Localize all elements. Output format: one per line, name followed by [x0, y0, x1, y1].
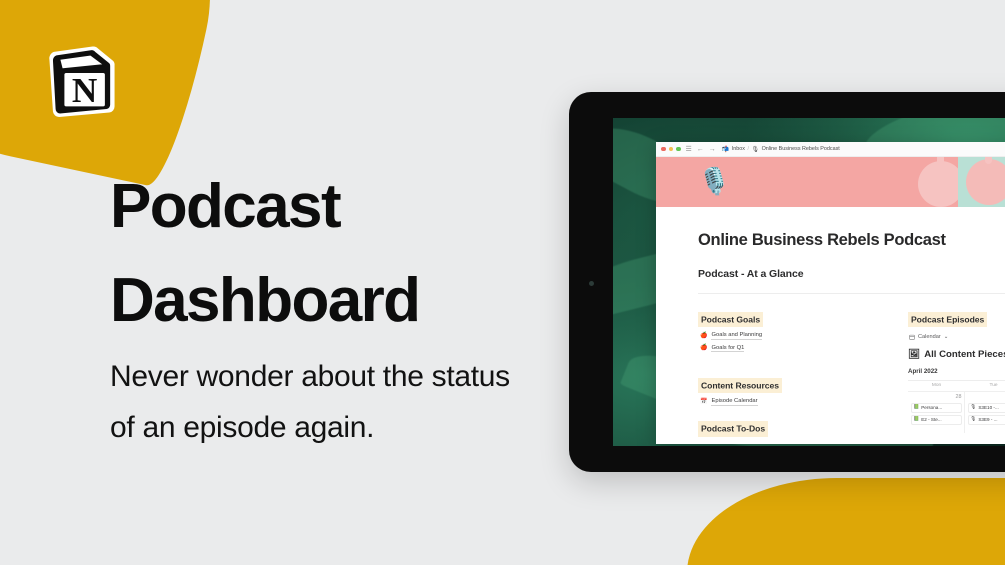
promo-graphic: N Podcast Dashboard Never wonder about t… — [0, 0, 1005, 565]
right-column: Podcast Episodes Calendar ⌄ 🖼 — [908, 309, 1005, 437]
block-podcast-todos: Podcast To-Dos — [698, 419, 886, 437]
breadcrumb-page[interactable]: Online Business Rebels Podcast — [762, 146, 840, 152]
page-title[interactable]: Online Business Rebels Podcast — [698, 231, 1005, 250]
divider — [698, 293, 1005, 294]
calendar-day-cell[interactable]: 29 🎙 S3E10 -... 🎙 S3E9 - ... — [965, 391, 1005, 433]
cover-right-mint — [958, 157, 1005, 207]
headphone-cup-shape — [966, 159, 1005, 205]
microphone-emoji-icon: 🎙 — [971, 405, 977, 410]
link-label: Episode Calendar — [711, 398, 757, 406]
book-emoji-icon: 📗 — [914, 417, 920, 422]
hamburger-icon[interactable]: ☰ — [686, 146, 692, 153]
tablet-screen: ☰ ← → 📬 Inbox / 🎙 Online Business Rebels… — [613, 118, 1005, 446]
decorative-blob-bottom-right — [687, 478, 1005, 565]
image-emoji-icon: 🖼 — [908, 349, 920, 360]
chevron-down-icon[interactable]: ⌄ — [944, 334, 949, 340]
event-label: E2 - Ste... — [921, 417, 941, 422]
spacer — [698, 352, 886, 375]
microphone-emoji-icon: 🎙 — [971, 417, 977, 422]
headline-line-2: Dashboard — [110, 254, 560, 348]
calendar-date: 28 — [911, 394, 962, 400]
calendar-event-chip[interactable]: 🎙 S3E9 - ... — [968, 415, 1005, 425]
link-label: Goals for Q1 — [711, 345, 744, 353]
calendar-date: 29 — [968, 394, 1005, 400]
heading-content-resources[interactable]: Content Resources — [698, 378, 782, 394]
camera-dot-icon — [589, 281, 594, 286]
browser-window: ☰ ← → 📬 Inbox / 🎙 Online Business Rebels… — [656, 142, 1005, 444]
calendar-emoji-icon: 📅 — [700, 399, 707, 405]
inbox-emoji-icon: 📬 — [722, 146, 729, 153]
browser-chrome: ☰ ← → 📬 Inbox / 🎙 Online Business Rebels… — [656, 142, 1005, 157]
calendar-month-label: April 2022 — [908, 368, 1005, 375]
headline-line-1: Podcast — [110, 172, 340, 241]
minimize-icon[interactable] — [669, 147, 674, 152]
apple-emoji-icon: 🍎 — [700, 333, 707, 339]
link-label: Goals and Planning — [711, 332, 762, 340]
left-column: Podcast Goals 🍎 Goals and Planning 🍎 Goa… — [698, 309, 886, 437]
list-item[interactable]: 🍎 Goals and Planning — [698, 332, 886, 340]
event-label: Persona... — [921, 405, 942, 410]
book-emoji-icon: 📗 — [914, 405, 920, 410]
breadcrumb-workspace[interactable]: Inbox — [732, 146, 745, 152]
page-icon[interactable]: 🎙️ — [698, 168, 730, 194]
calendar-icon — [909, 334, 915, 340]
calendar-event-chip[interactable]: 📗 Persona... — [911, 403, 962, 413]
headphone-cup-shape — [918, 161, 958, 207]
apple-emoji-icon: 🍎 — [700, 345, 707, 351]
close-icon[interactable] — [661, 147, 666, 152]
arrow-left-icon[interactable]: ← — [697, 146, 704, 153]
list-item[interactable]: 🍎 Goals for Q1 — [698, 345, 886, 353]
list-item[interactable]: 📅 Episode Calendar — [698, 398, 886, 406]
heading-podcast-goals[interactable]: Podcast Goals — [698, 312, 763, 328]
svg-text:N: N — [72, 71, 97, 110]
breadcrumb: 📬 Inbox / 🎙 Online Business Rebels Podca… — [722, 146, 840, 153]
tablet-device: ☰ ← → 📬 Inbox / 🎙 Online Business Rebels… — [569, 92, 1005, 472]
page-subheading[interactable]: Podcast - At a Glance — [698, 268, 1005, 280]
page-subtitle: Never wonder about the status of an epis… — [110, 351, 510, 453]
block-content-resources: Content Resources 📅 Episode Calendar — [698, 375, 886, 406]
breadcrumb-separator: / — [747, 146, 749, 152]
spacer — [698, 406, 886, 419]
page-headline: Podcast Dashboard — [110, 160, 560, 348]
calendar-weekday: Mon — [908, 381, 965, 391]
view-label: Calendar — [918, 334, 941, 340]
database-title[interactable]: 🖼 All Content Pieces JD — [908, 349, 1005, 360]
maximize-icon[interactable] — [676, 147, 681, 152]
notion-page-body: Online Business Rebels Podcast Podcast -… — [656, 207, 1005, 437]
heading-podcast-todos[interactable]: Podcast To-Dos — [698, 421, 768, 437]
notion-logo: N — [38, 36, 126, 124]
calendar-grid: Mon Tue Wed Thu 28 📗 Persona... — [908, 380, 1005, 433]
database-view-selector[interactable]: Calendar ⌄ — [908, 334, 1005, 340]
event-label: S3E10 -... — [978, 405, 998, 410]
calendar-event-chip[interactable]: 📗 E2 - Ste... — [911, 415, 962, 425]
heading-podcast-episodes[interactable]: Podcast Episodes — [908, 312, 987, 328]
database-title-label: All Content Pieces JD — [924, 349, 1005, 360]
arrow-right-icon[interactable]: → — [709, 146, 716, 153]
calendar-weekday: Tue — [965, 381, 1005, 391]
calendar-day-cell[interactable]: 28 📗 Persona... 📗 E2 - Ste... — [908, 391, 965, 433]
calendar-event-chip[interactable]: 🎙 S3E10 -... — [968, 403, 1005, 413]
microphone-emoji-icon: 🎙 — [751, 146, 759, 153]
two-column-layout: Podcast Goals 🍎 Goals and Planning 🍎 Goa… — [698, 309, 1005, 437]
block-podcast-goals: Podcast Goals 🍎 Goals and Planning 🍎 Goa… — [698, 309, 886, 352]
event-label: S3E9 - ... — [978, 417, 997, 422]
